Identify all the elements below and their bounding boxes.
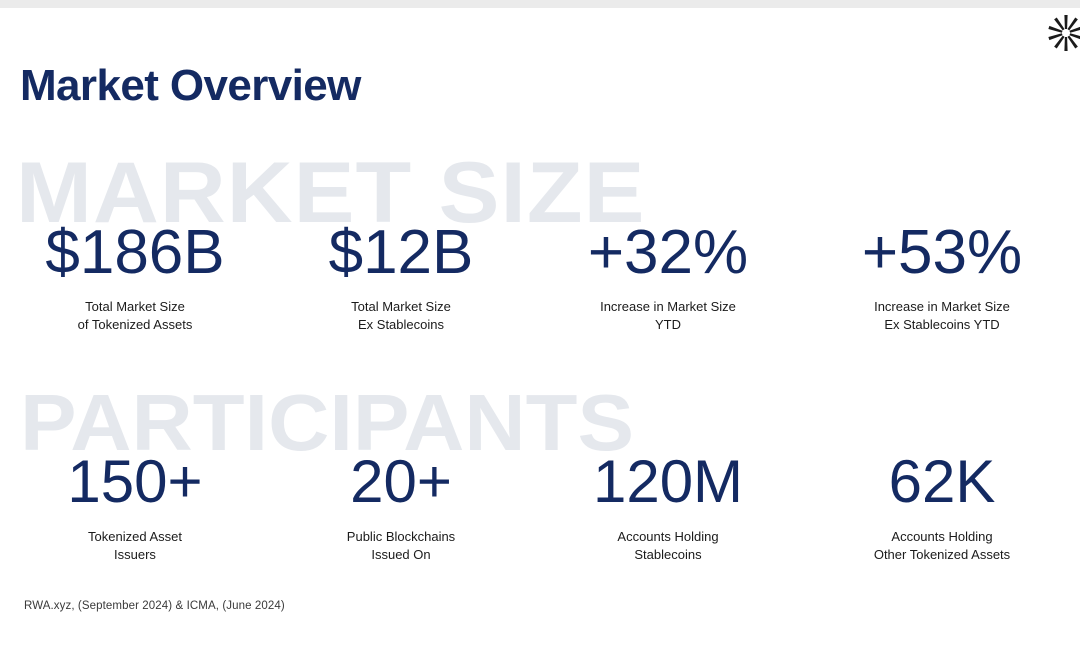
stat-label: Increase in Market Size YTD — [600, 298, 736, 335]
stat-label: Public Blockchains Issued On — [347, 528, 455, 565]
stat-value: +32% — [588, 222, 748, 284]
stat-value: +53% — [862, 222, 1022, 284]
source-note: RWA.xyz, (September 2024) & ICMA, (June … — [24, 600, 285, 612]
stat-label: Total Market Size of Tokenized Assets — [78, 298, 193, 335]
starburst-logo-icon — [1046, 13, 1080, 53]
stat-value: 120M — [593, 452, 743, 512]
stat-card: 20+ Public Blockchains Issued On — [270, 452, 532, 565]
stat-value: 150+ — [67, 452, 202, 512]
slide-canvas: Market Overview MARKET SIZE $186B Total … — [0, 0, 1080, 663]
stat-value: $12B — [329, 222, 474, 284]
stat-card: 62K Accounts Holding Other Tokenized Ass… — [804, 452, 1080, 565]
stat-label: Accounts Holding Other Tokenized Assets — [874, 528, 1010, 565]
stat-label: Increase in Market Size Ex Stablecoins Y… — [874, 298, 1010, 335]
stat-row-market-size: $186B Total Market Size of Tokenized Ass… — [0, 222, 1080, 335]
stat-card: +32% Increase in Market Size YTD — [532, 222, 804, 335]
stat-label: Tokenized Asset Issuers — [88, 528, 182, 565]
stat-value: 20+ — [350, 452, 452, 512]
stat-label: Accounts Holding Stablecoins — [617, 528, 718, 565]
stat-value: $186B — [45, 222, 224, 284]
stat-card: $12B Total Market Size Ex Stablecoins — [270, 222, 532, 335]
stat-label: Total Market Size Ex Stablecoins — [351, 298, 451, 335]
top-edge-strip — [0, 0, 1080, 8]
stat-card: +53% Increase in Market Size Ex Stableco… — [804, 222, 1080, 335]
stat-card: 150+ Tokenized Asset Issuers — [0, 452, 270, 565]
page-title: Market Overview — [20, 64, 361, 108]
stat-card: 120M Accounts Holding Stablecoins — [532, 452, 804, 565]
stat-row-participants: 150+ Tokenized Asset Issuers 20+ Public … — [0, 452, 1080, 565]
stat-value: 62K — [889, 452, 996, 512]
stat-card: $186B Total Market Size of Tokenized Ass… — [0, 222, 270, 335]
